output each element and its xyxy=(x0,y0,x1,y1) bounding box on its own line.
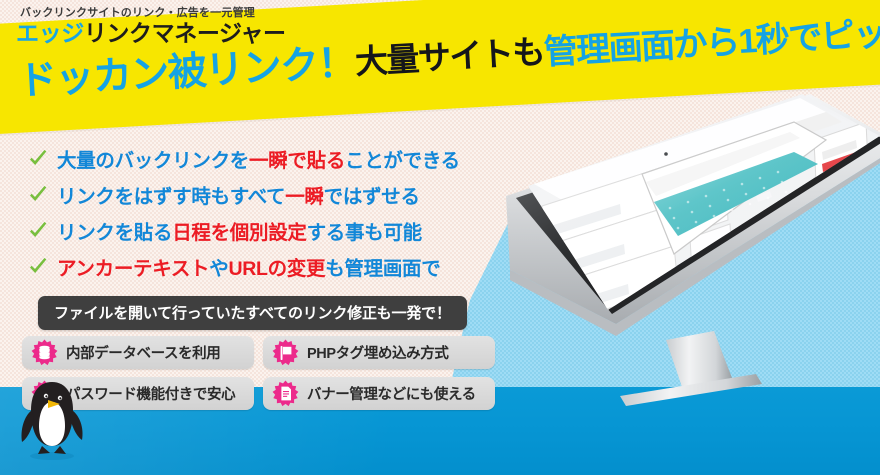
benefit-text-segment: ことができる xyxy=(345,150,460,172)
flag-icon xyxy=(272,339,299,366)
feature-chip: バナー管理などにも使える xyxy=(263,377,495,410)
benefit-item-label: リンクをはずす時もすべて一瞬ではずせる xyxy=(57,180,420,209)
feature-chip-label: パスワード機能付きで安心 xyxy=(66,383,235,404)
benefit-text-segment: も管理画面で xyxy=(325,258,440,280)
document-icon xyxy=(272,380,299,407)
check-icon xyxy=(28,221,48,241)
header-kicker: バックリンクサイトのリンク・広告を一元管理 xyxy=(20,4,286,20)
benefit-text-segment: 一瞬 xyxy=(285,186,323,208)
feature-chip-label: 内部データベースを利用 xyxy=(66,342,220,363)
benefit-item-label: アンカーテキストやURLの変更も管理画面で xyxy=(57,252,440,281)
feature-chip-label: バナー管理などにも使える xyxy=(307,383,476,404)
benefit-text-segment: 一瞬で貼る xyxy=(249,150,345,172)
benefit-item: リンクを貼る日程を個別設定する事も可能 xyxy=(28,215,460,246)
benefit-item-label: リンクを貼る日程を個別設定する事も可能 xyxy=(57,216,422,245)
highlight-banner: ファイルを開いて行っていたすべてのリンク修正も一発で！ xyxy=(38,296,467,330)
check-icon xyxy=(28,185,48,205)
feature-chip: 内部データベースを利用 xyxy=(22,336,254,369)
feature-chip-grid: 内部データベースを利用 PHPタグ埋め込み方式 パスワード機能付きで安心 バナー… xyxy=(22,336,495,410)
check-icon xyxy=(28,149,48,169)
database-icon xyxy=(31,339,58,366)
benefit-text-segment: や xyxy=(209,258,228,280)
benefit-text-segment: 大量のバックリンクを xyxy=(57,150,249,172)
logo-highlight: エッジ xyxy=(16,20,84,46)
feature-chip: PHPタグ埋め込み方式 xyxy=(263,336,495,369)
product-screenshot-monitor xyxy=(470,78,880,408)
benefit-item-label: 大量のバックリンクを一瞬で貼ることができる xyxy=(57,144,460,173)
brand-header: バックリンクサイトのリンク・広告を一元管理 エッジリンクマネージャー xyxy=(16,4,286,47)
feature-chip-label: PHPタグ埋め込み方式 xyxy=(307,342,448,363)
benefit-item: リンクをはずす時もすべて一瞬ではずせる xyxy=(28,179,460,210)
benefit-item: アンカーテキストやURLの変更も管理画面で xyxy=(28,251,460,282)
monitor-stand xyxy=(620,331,762,406)
benefit-text-segment: 日程を個別設定 xyxy=(172,222,306,244)
benefit-text-segment: URLの変更 xyxy=(228,258,325,280)
penguin-mascot xyxy=(16,376,88,462)
benefit-text-segment: する事も可能 xyxy=(307,222,422,244)
benefit-text-segment: アンカーテキスト xyxy=(57,258,209,280)
benefit-text-segment: リンクをはずす時もすべて xyxy=(57,186,285,208)
benefit-text-segment: リンクを貼る xyxy=(57,222,172,244)
benefit-list: 大量のバックリンクを一瞬で貼ることができる リンクをはずす時もすべて一瞬ではずせ… xyxy=(28,143,460,287)
logo-rest: リンクマネージャー xyxy=(84,20,286,46)
banner-stage: ドッカン被リンク！大量サイトも管理画面から1秒でピッ！ バックリンクサイトのリン… xyxy=(0,0,880,475)
benefit-item: 大量のバックリンクを一瞬で貼ることができる xyxy=(28,143,460,174)
headline-part-3: 管理画面から1秒でピッ！ xyxy=(542,4,880,74)
headline-part-2: 大量サイトも xyxy=(354,25,545,83)
check-icon xyxy=(28,257,48,277)
benefit-text-segment: ではずせる xyxy=(324,186,420,208)
page-title: エッジリンクマネージャー xyxy=(16,21,286,47)
